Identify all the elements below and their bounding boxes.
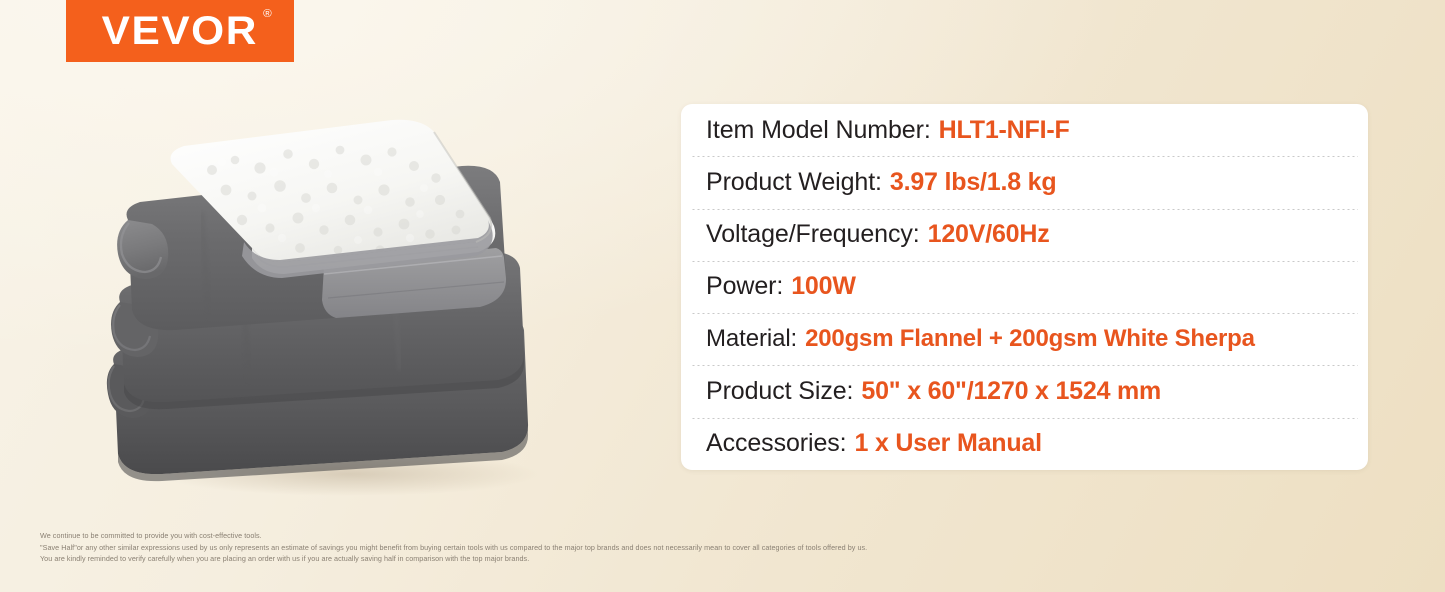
- spec-row: Product Weight:3.97 lbs/1.8 kg: [681, 156, 1368, 208]
- specification-card: Item Model Number:HLT1-NFI-FProduct Weig…: [681, 104, 1368, 470]
- spec-value: 3.97 lbs/1.8 kg: [890, 168, 1057, 197]
- disclaimer-line-1: We continue to be committed to provide y…: [40, 530, 1330, 542]
- spec-row: Power:100W: [681, 261, 1368, 313]
- spec-row: Accessories:1 x User Manual: [681, 418, 1368, 470]
- spec-value: 50" x 60"/1270 x 1524 mm: [861, 377, 1161, 406]
- spec-row: Item Model Number:HLT1-NFI-F: [681, 104, 1368, 156]
- spec-row: Voltage/Frequency:120V/60Hz: [681, 209, 1368, 261]
- disclaimer-line-3: You are kindly reminded to verify carefu…: [40, 553, 1330, 565]
- disclaimer-line-2: "Save Half"or any other similar expressi…: [40, 542, 1330, 554]
- spec-row: Product Size:50" x 60"/1270 x 1524 mm: [681, 365, 1368, 417]
- spec-label: Accessories:: [706, 429, 847, 458]
- vevor-wordmark: VEVOR®: [102, 11, 258, 51]
- spec-label: Material:: [706, 325, 797, 353]
- spec-value: 200gsm Flannel + 200gsm White Sherpa: [805, 325, 1255, 353]
- vevor-brand-text: VEVOR: [102, 9, 258, 53]
- spec-label: Power:: [706, 272, 783, 301]
- spec-label: Voltage/Frequency:: [706, 220, 920, 249]
- vevor-logo: VEVOR®: [66, 0, 294, 62]
- spec-value: 120V/60Hz: [928, 220, 1050, 249]
- spec-label: Product Size:: [706, 377, 853, 406]
- spec-value: HLT1-NFI-F: [939, 116, 1070, 145]
- spec-row: Material:200gsm Flannel + 200gsm White S…: [681, 313, 1368, 365]
- spec-value: 1 x User Manual: [855, 429, 1042, 458]
- registered-trademark-icon: ®: [263, 9, 272, 20]
- disclaimer-text: We continue to be committed to provide y…: [40, 530, 1330, 565]
- spec-value: 100W: [791, 272, 856, 301]
- spec-label: Item Model Number:: [706, 116, 931, 145]
- spec-label: Product Weight:: [706, 168, 882, 197]
- product-image: [92, 102, 602, 502]
